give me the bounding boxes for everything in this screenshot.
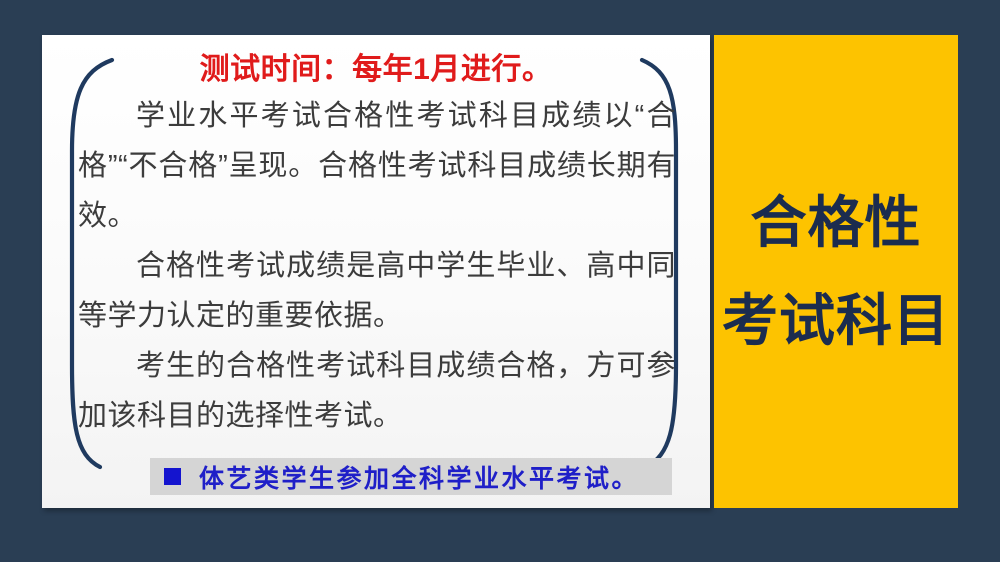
paragraph-3: 考生的合格性考试科目成绩合格，方可参加该科目的选择性考试。 — [70, 341, 682, 441]
document-text-block: 测试时间：每年1月进行。 学业水平考试合格性考试科目成绩以“合格”“不合格”呈现… — [70, 49, 682, 441]
callout-text: 体艺类学生参加全科学业水平考试。 — [199, 459, 639, 495]
paragraph-2: 合格性考试成绩是高中学生毕业、高中同等学力认定的重要依据。 — [70, 241, 682, 341]
callout-bar: 体艺类学生参加全科学业水平考试。 — [150, 458, 672, 495]
side-panel-line-2: 考试科目 — [722, 293, 950, 349]
paragraph-1: 学业水平考试合格性考试科目成绩以“合格”“不合格”呈现。合格性考试科目成绩长期有… — [70, 91, 682, 241]
side-panel: 合格性 考试科目 — [714, 35, 958, 508]
document-title: 测试时间：每年1月进行。 — [70, 49, 682, 91]
slide-canvas: 测试时间：每年1月进行。 学业水平考试合格性考试科目成绩以“合格”“不合格”呈现… — [0, 0, 1000, 562]
square-bullet-icon — [164, 468, 181, 485]
side-panel-line-1: 合格性 — [751, 195, 922, 251]
document-card: 测试时间：每年1月进行。 学业水平考试合格性考试科目成绩以“合格”“不合格”呈现… — [42, 35, 710, 508]
